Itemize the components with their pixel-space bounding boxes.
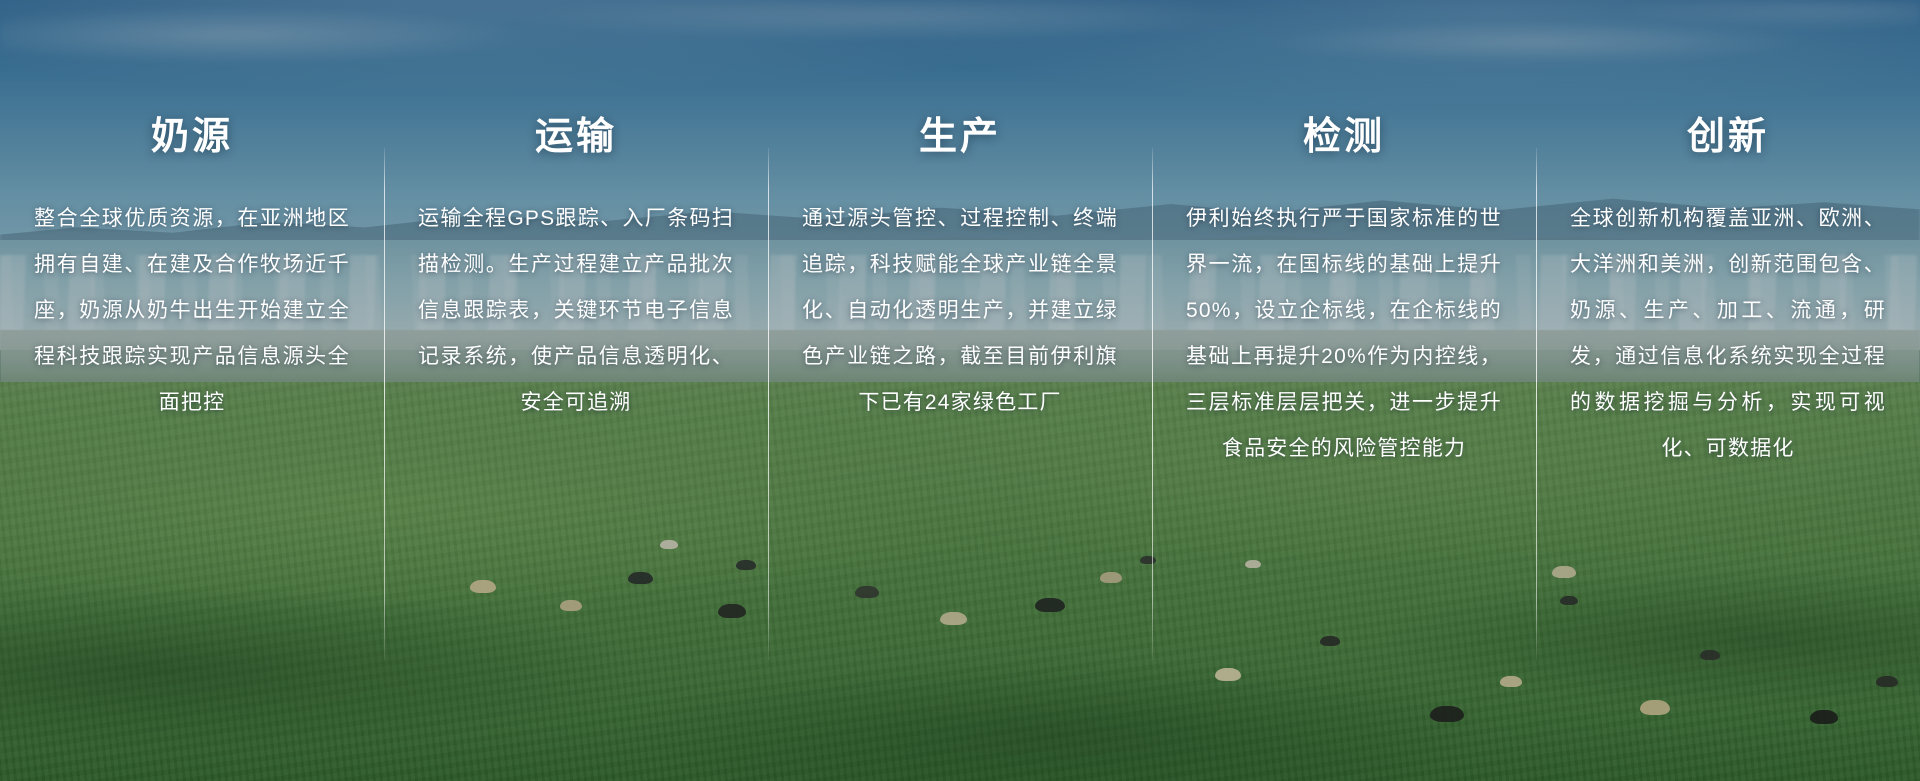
- feature-column-milk-source: 奶源 整合全球优质资源，在亚洲地区拥有自建、在建及合作牧场近千座，奶源从奶牛出生…: [0, 118, 384, 781]
- feature-column-inspection: 检测 伊利始终执行严于国家标准的世界一流，在国标线的基础上提升50%，设立企标线…: [1152, 118, 1536, 781]
- feature-column-innovation: 创新 全球创新机构覆盖亚洲、欧洲、大洋洲和美洲，创新范围包含、奶源、生产、加工、…: [1536, 118, 1920, 781]
- column-title-milk-source: 奶源: [34, 118, 350, 156]
- column-description-milk-source: 整合全球优质资源，在亚洲地区拥有自建、在建及合作牧场近千座，奶源从奶牛出生开始建…: [34, 196, 350, 426]
- hero-banner: 奶源 整合全球优质资源，在亚洲地区拥有自建、在建及合作牧场近千座，奶源从奶牛出生…: [0, 0, 1920, 781]
- column-description-innovation: 全球创新机构覆盖亚洲、欧洲、大洋洲和美洲，创新范围包含、奶源、生产、加工、流通，…: [1570, 196, 1886, 472]
- column-title-innovation: 创新: [1570, 118, 1886, 156]
- feature-column-production: 生产 通过源头管控、过程控制、终端追踪，科技赋能全球产业链全景化、自动化透明生产…: [768, 118, 1152, 781]
- column-description-production: 通过源头管控、过程控制、终端追踪，科技赋能全球产业链全景化、自动化透明生产，并建…: [802, 196, 1118, 426]
- column-title-inspection: 检测: [1186, 118, 1502, 156]
- column-description-transport: 运输全程GPS跟踪、入厂条码扫描检测。生产过程建立产品批次信息跟踪表，关键环节电…: [418, 196, 734, 426]
- column-title-transport: 运输: [418, 118, 734, 156]
- feature-column-transport: 运输 运输全程GPS跟踪、入厂条码扫描检测。生产过程建立产品批次信息跟踪表，关键…: [384, 118, 768, 781]
- column-description-inspection: 伊利始终执行严于国家标准的世界一流，在国标线的基础上提升50%，设立企标线，在企…: [1186, 196, 1502, 472]
- column-title-production: 生产: [802, 118, 1118, 156]
- feature-columns: 奶源 整合全球优质资源，在亚洲地区拥有自建、在建及合作牧场近千座，奶源从奶牛出生…: [0, 0, 1920, 781]
